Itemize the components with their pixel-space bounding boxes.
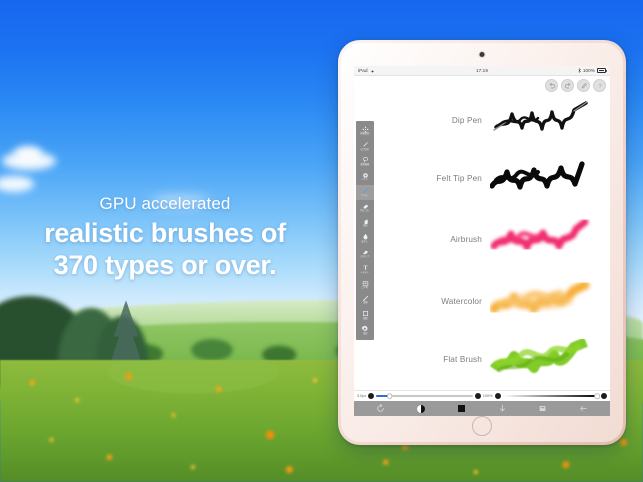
undo-button[interactable] <box>545 79 558 92</box>
rotate-canvas-button[interactable] <box>372 403 388 415</box>
battery-percent-label: 100% <box>583 68 595 73</box>
color-swatch-button[interactable] <box>454 403 470 415</box>
canvas-toolbar: ? <box>545 79 606 92</box>
carrier-label: iPad <box>358 68 368 73</box>
color-square-icon <box>458 405 466 413</box>
redo-button[interactable] <box>561 79 574 92</box>
text-icon: T <box>362 264 369 271</box>
brush-opacity-max-marker <box>601 393 607 399</box>
tool-label: テキスト <box>361 272 370 274</box>
brush-stroke-flat-brush <box>490 339 595 379</box>
promo-screenshot: GPU accelerated realistic brushes of 370… <box>0 0 643 482</box>
brush-stroke-dip-pen <box>490 100 595 140</box>
layers-button[interactable] <box>535 403 551 415</box>
tool-label: 消しゴム <box>361 210 370 212</box>
pen-tool[interactable]: なげなわ <box>356 138 374 153</box>
brush-label: Flat Brush <box>354 355 490 364</box>
app-bottom-toolbar <box>354 401 610 416</box>
brush-opacity-value: 100% <box>483 394 493 398</box>
brush-size-handle[interactable] <box>387 393 393 399</box>
text-tool[interactable]: T テキスト <box>356 262 374 277</box>
pen-nib-icon <box>362 141 369 148</box>
brush-stroke-felt-tip-pen <box>490 158 595 198</box>
front-camera-icon <box>480 52 485 57</box>
clock-label: 17:19 <box>476 68 488 73</box>
download-button[interactable] <box>494 403 510 415</box>
cloud <box>14 146 42 161</box>
tablet-device: iPad 17:19 100% <box>338 40 626 445</box>
color-circle-icon <box>417 405 425 413</box>
brush-label: Dip Pen <box>354 116 490 125</box>
brush-size-value: 3.0px <box>357 394 366 398</box>
undo-icon <box>548 82 556 90</box>
redo-icon <box>564 82 572 90</box>
brush-settings-bar: 3.0px 100% <box>354 390 610 401</box>
back-button[interactable] <box>576 403 592 415</box>
headline-line-2: 370 types or over. <box>0 249 330 281</box>
help-button[interactable]: ? <box>593 79 606 92</box>
brush-stroke-airbrush <box>490 219 595 259</box>
brush-size-min-marker <box>368 393 374 399</box>
eyedropper-button[interactable] <box>577 79 590 92</box>
eyedropper-icon <box>580 82 588 90</box>
marketing-copy: GPU accelerated realistic brushes of 370… <box>0 193 330 281</box>
home-button[interactable] <box>472 416 492 436</box>
arrow-left-icon <box>579 404 588 413</box>
brush-opacity-min-marker <box>495 393 501 399</box>
settings-tool[interactable]: 設定 <box>356 323 374 338</box>
wifi-icon <box>370 69 375 73</box>
tool-label: なげなわ <box>361 149 370 151</box>
subheadline: GPU accelerated <box>0 193 330 217</box>
brush-size-slider[interactable] <box>376 395 473 398</box>
drawing-canvas[interactable]: ? 移動変形 <box>354 76 610 390</box>
eraser-tool[interactable]: 消しゴム <box>356 200 374 215</box>
color-wheel-button[interactable] <box>413 403 429 415</box>
brush-opacity-handle[interactable] <box>594 393 600 399</box>
brush-sample-row: Dip Pen <box>354 100 610 140</box>
svg-text:?: ? <box>598 84 601 90</box>
question-mark-icon: ? <box>596 82 604 90</box>
brush-label: Airbrush <box>354 235 490 244</box>
tablet-screen: iPad 17:19 100% <box>354 66 610 416</box>
brush-label: Watercolor <box>354 297 490 306</box>
rotate-icon <box>376 404 385 413</box>
brush-stroke-watercolor <box>490 281 595 321</box>
brush-sample-row: Watercolor <box>354 281 610 321</box>
brush-label: Felt Tip Pen <box>354 174 490 183</box>
brush-opacity-slider[interactable] <box>503 395 600 398</box>
bluetooth-icon <box>578 68 581 73</box>
status-bar: iPad 17:19 100% <box>354 66 610 76</box>
brush-sample-row: Flat Brush <box>354 339 610 379</box>
arrow-down-icon <box>498 404 507 413</box>
brush-size-max-marker <box>475 393 481 399</box>
headline-line-1: realistic brushes of <box>0 217 330 249</box>
brush-sample-row: Airbrush <box>354 219 610 259</box>
tool-label: 設定 <box>363 334 367 336</box>
layers-icon <box>538 404 547 413</box>
brush-sample-row: Felt Tip Pen <box>354 158 610 198</box>
battery-full-icon <box>597 68 606 73</box>
